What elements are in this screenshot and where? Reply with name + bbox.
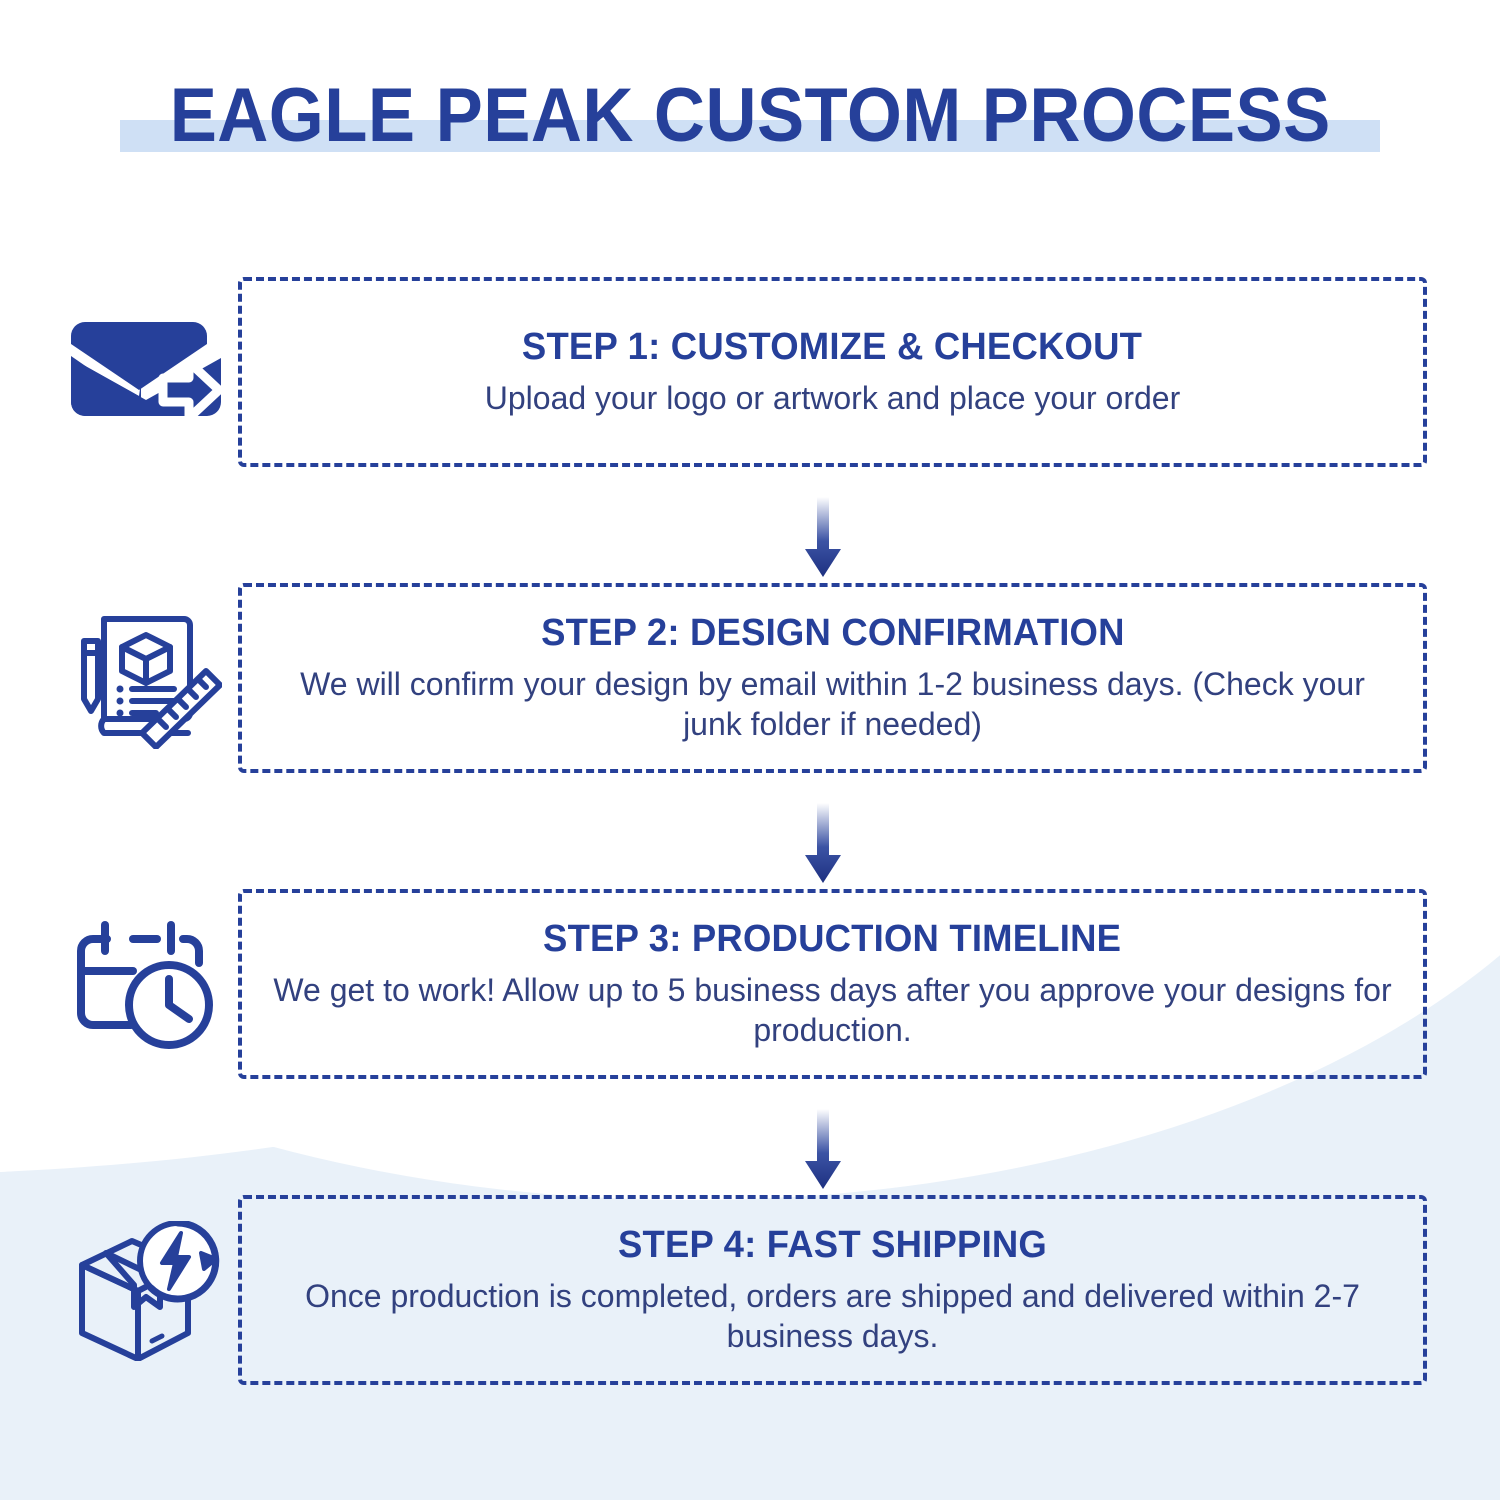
envelope-send-icon (58, 287, 234, 459)
step-3-description: We get to work! Allow up to 5 business d… (273, 971, 1393, 1049)
step-4: STEP 4: FAST SHIPPING Once production is… (0, 1195, 1500, 1387)
step-4-title: STEP 4: FAST SHIPPING (618, 1224, 1047, 1267)
page-title-text: EAGLE PEAK CUSTOM PROCESS (169, 78, 1330, 154)
step-3-box: STEP 3: PRODUCTION TIMELINE We get to wo… (238, 889, 1427, 1079)
infographic-canvas: CUSTOM CANOPIES EAGLE PEAK CUSTOM PROCES… (0, 0, 1500, 1500)
arrow-step3-to-step4 (803, 1109, 843, 1189)
calendar-clock-icon (58, 899, 234, 1071)
step-4-description: Once production is completed, orders are… (273, 1277, 1393, 1355)
step-3: STEP 3: PRODUCTION TIMELINE We get to wo… (0, 889, 1500, 1081)
step-4-box: STEP 4: FAST SHIPPING Once production is… (238, 1195, 1427, 1385)
step-2-title: STEP 2: DESIGN CONFIRMATION (541, 612, 1125, 655)
step-2-description: We will confirm your design by email wit… (273, 665, 1393, 743)
step-2-box: STEP 2: DESIGN CONFIRMATION We will conf… (238, 583, 1427, 773)
step-1-title: STEP 1: CUSTOMIZE & CHECKOUT (522, 326, 1142, 369)
arrow-step1-to-step2 (803, 497, 843, 577)
step-1-description: Upload your logo or artwork and place yo… (485, 379, 1180, 418)
step-1-box: STEP 1: CUSTOMIZE & CHECKOUT Upload your… (238, 277, 1427, 467)
blueprint-design-icon (58, 593, 234, 765)
step-1: STEP 1: CUSTOMIZE & CHECKOUT Upload your… (0, 277, 1500, 469)
step-3-title: STEP 3: PRODUCTION TIMELINE (543, 918, 1121, 961)
page-title: EAGLE PEAK CUSTOM PROCESS (0, 78, 1500, 154)
fast-shipping-box-icon (58, 1205, 234, 1377)
step-2: STEP 2: DESIGN CONFIRMATION We will conf… (0, 583, 1500, 775)
arrow-step2-to-step3 (803, 803, 843, 883)
